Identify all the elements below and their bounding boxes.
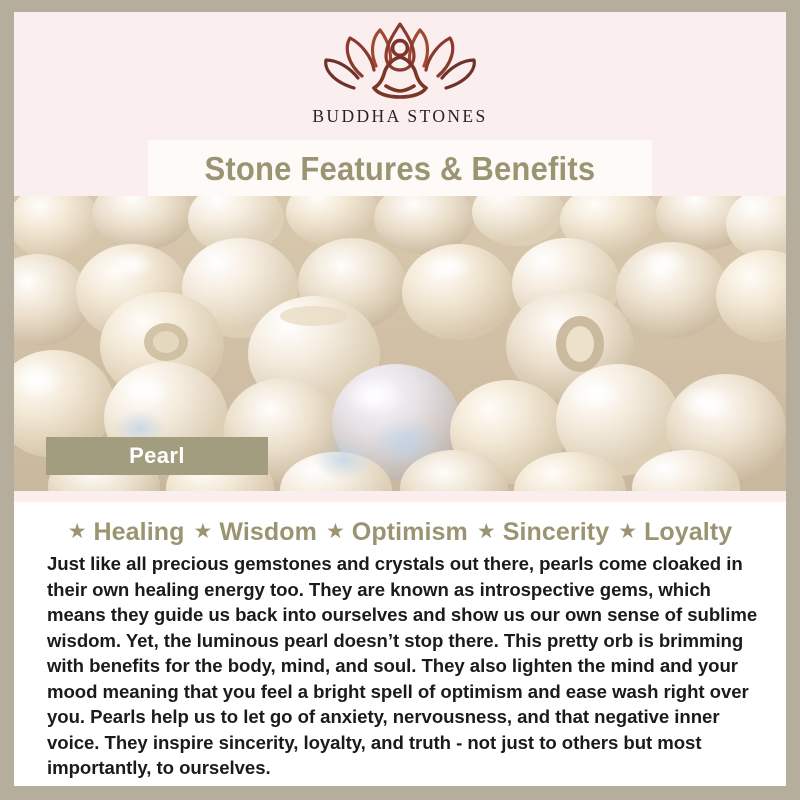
star-icon: ★ (618, 521, 637, 542)
keyword-wisdom: ★ Wisdom (185, 520, 317, 545)
keyword-sincerity: ★ Sincerity (468, 520, 609, 545)
poster: BUDDHA STONES Stone Features & Benefits (0, 0, 800, 800)
keyword-healing: ★ Healing (68, 520, 185, 545)
keyword-loyalty: ★ Loyalty (609, 520, 732, 545)
keyword-label: Healing (94, 520, 185, 545)
star-icon: ★ (194, 521, 213, 542)
keyword-label: Sincerity (503, 520, 610, 545)
content-card: ★ Healing ★ Wisdom ★ Optimism ★ Sincerit… (14, 502, 786, 786)
keyword-label: Loyalty (644, 520, 732, 545)
keyword-label: Wisdom (219, 520, 317, 545)
stone-description: Just like all precious gemstones and cry… (38, 551, 762, 781)
title-banner: Stone Features & Benefits (148, 140, 652, 196)
star-icon: ★ (477, 521, 496, 542)
benefit-keywords: ★ Healing ★ Wisdom ★ Optimism ★ Sincerit… (38, 520, 762, 545)
page-title: Stone Features & Benefits (205, 152, 596, 185)
pearl-photo: Pearl (14, 196, 786, 491)
brand-name: BUDDHA STONES (312, 106, 487, 127)
brand-header: BUDDHA STONES (14, 12, 786, 144)
page-surface: BUDDHA STONES Stone Features & Benefits (14, 12, 786, 786)
keyword-label: Optimism (352, 520, 468, 545)
stone-name: Pearl (129, 443, 185, 469)
lotus-meditation-icon (314, 18, 486, 104)
keyword-optimism: ★ Optimism (317, 520, 468, 545)
stone-name-tab: Pearl (46, 437, 268, 475)
star-icon: ★ (68, 521, 87, 542)
star-icon: ★ (326, 521, 345, 542)
